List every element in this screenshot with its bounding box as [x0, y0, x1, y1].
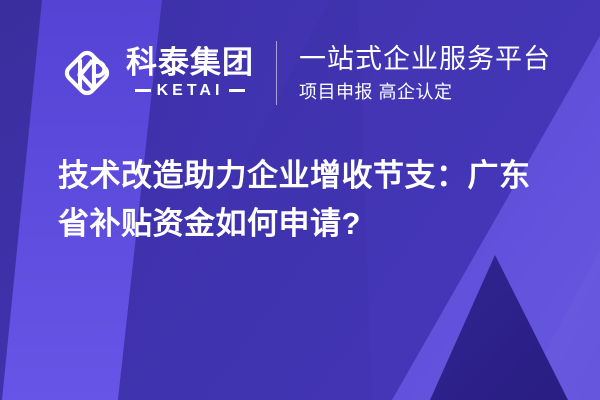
ketai-diamond-kp-monogram-icon — [58, 44, 116, 102]
brand-logo[interactable]: 科泰集团 KETAI — [58, 44, 254, 102]
brand-wordmark: 科泰集团 KETAI — [126, 47, 254, 99]
tagline-main: 一站式企业服务平台 — [299, 44, 551, 76]
dash-rule-right-icon — [229, 89, 245, 92]
tagline-sub: 项目申报 高企认定 — [299, 80, 551, 104]
brand-name-en-row: KETAI — [126, 83, 254, 99]
page-title: 技术改造助力企业增收节支：广东省补贴资金如何申请? — [58, 152, 558, 248]
dash-rule-left-icon — [135, 89, 151, 92]
promo-banner: 科泰集团 KETAI 一站式企业服务平台 项目申报 高企认定 技术改造助力企业增… — [0, 0, 600, 400]
banner-content: 科泰集团 KETAI 一站式企业服务平台 项目申报 高企认定 技术改造助力企业增… — [0, 0, 600, 400]
brand-name-cn: 科泰集团 — [126, 47, 254, 80]
brand-header: 科泰集团 KETAI 一站式企业服务平台 项目申报 高企认定 — [58, 36, 551, 110]
tagline-group: 一站式企业服务平台 项目申报 高企认定 — [299, 42, 551, 104]
brand-name-en: KETAI — [151, 83, 230, 99]
header-divider — [276, 41, 277, 105]
